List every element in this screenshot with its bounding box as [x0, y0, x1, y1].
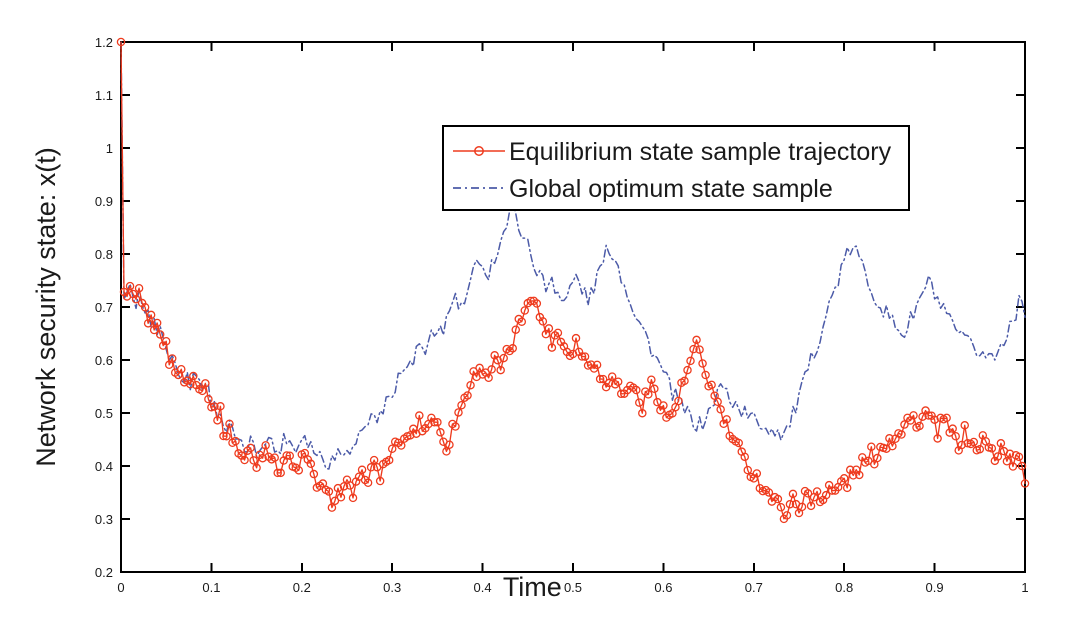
- y-tick-label: 0.9: [95, 194, 113, 209]
- y-axis-title: Network security state: x(t): [31, 147, 61, 467]
- y-tick-label: 0.2: [95, 565, 113, 580]
- y-tick-label: 0.8: [95, 247, 113, 262]
- y-tick-label: 0.4: [95, 459, 113, 474]
- x-tick-label: 0.5: [564, 580, 582, 595]
- x-tick-label: 0: [117, 580, 124, 595]
- line-chart: 00.10.20.30.40.50.60.70.80.91 0.20.30.40…: [0, 0, 1071, 617]
- figure-background: [0, 0, 1071, 617]
- x-axis-title: Time: [503, 572, 562, 602]
- legend-label-2: Global optimum state sample: [509, 175, 833, 203]
- y-tick-label: 0.7: [95, 300, 113, 315]
- x-tick-label: 1: [1021, 580, 1028, 595]
- y-tick-label: 1.1: [95, 88, 113, 103]
- x-tick-label: 0.3: [383, 580, 401, 595]
- legend-label-1: Equilibrium state sample trajectory: [509, 138, 892, 166]
- x-tick-label: 0.9: [926, 580, 944, 595]
- y-tick-label: 0.3: [95, 512, 113, 527]
- x-tick-label: 0.2: [293, 580, 311, 595]
- x-tick-label: 0.6: [654, 580, 672, 595]
- x-tick-label: 0.4: [474, 580, 492, 595]
- y-tick-label: 1.2: [95, 35, 113, 50]
- x-tick-label: 0.8: [835, 580, 853, 595]
- chart-figure: 00.10.20.30.40.50.60.70.80.91 0.20.30.40…: [0, 0, 1071, 617]
- chart-legend[interactable]: Equilibrium state sample trajectoryGloba…: [443, 126, 909, 210]
- y-tick-label: 1: [106, 141, 113, 156]
- y-tick-label: 0.6: [95, 353, 113, 368]
- x-tick-label: 0.1: [202, 580, 220, 595]
- y-tick-label: 0.5: [95, 406, 113, 421]
- x-tick-label: 0.7: [745, 580, 763, 595]
